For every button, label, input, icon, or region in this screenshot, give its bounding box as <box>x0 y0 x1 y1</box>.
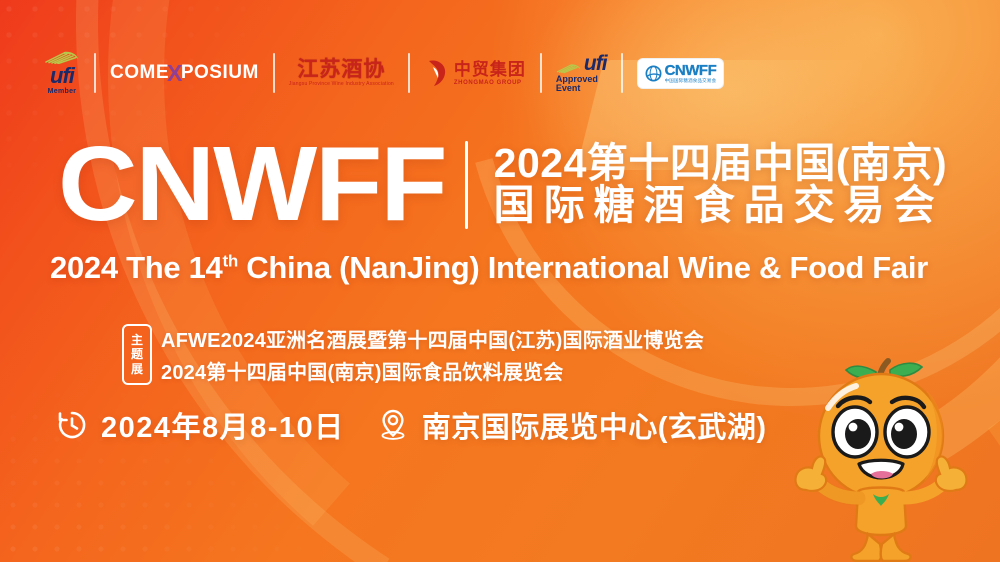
comexposium-logo: COME X POSIUM <box>110 60 259 87</box>
clock-history-icon <box>56 409 88 441</box>
event-date-item: 2024年8月8-10日 <box>56 404 345 446</box>
themed-exhibition-line-2: 2024第十四届中国(南京)国际食品饮料展览会 <box>161 356 704 385</box>
jiangsu-wine-association-en: Jiangsu Province Wine Industry Associati… <box>289 82 394 87</box>
cnwff-logo-main: CNWFF <box>665 63 717 78</box>
logo-divider-3 <box>408 53 410 93</box>
english-title: 2024 The 14th China (NanJing) Internatio… <box>50 250 928 286</box>
comexposium-part2: POSIUM <box>181 62 259 84</box>
theme-badge: 主 题 展 <box>122 324 152 385</box>
logo-divider-1 <box>94 53 96 93</box>
ufi-event-label: Event <box>556 84 581 93</box>
event-venue: 南京国际展览中心(玄武湖) <box>422 404 767 446</box>
zhongmao-horse-icon <box>424 58 450 88</box>
zhongmao-group-en: ZHONGMAO GROUP <box>454 80 526 86</box>
comexposium-part1: COME <box>110 62 169 84</box>
cnwff-logo: CNWFF 中国国际糖酒食品交易会 <box>637 58 725 89</box>
globe-icon <box>645 65 662 82</box>
ufi-approved-wordmark: ufi <box>584 53 607 74</box>
english-title-ordinal: th <box>222 252 237 271</box>
halftone-dots-bottom-left <box>0 362 340 562</box>
headline: CNWFF 2024第十四届中国(南京) 国际糖酒食品交易会 <box>58 136 947 234</box>
chinese-title-line1: 2024第十四届中国(南京) <box>494 143 948 185</box>
ufi-member-label: Member <box>48 88 77 95</box>
chinese-title-line2: 国际糖酒食品交易会 <box>494 185 948 227</box>
logo-divider-4 <box>540 53 542 93</box>
logo-bar: ufi Member COME X POSIUM 江苏酒协 Jiangsu Pr… <box>44 49 724 97</box>
themed-exhibitions: 主 题 展 AFWE2024亚洲名酒展暨第十四届中国(江苏)国际酒业博览会 20… <box>122 324 704 385</box>
event-venue-item: 南京国际展览中心(玄武湖) <box>377 404 767 446</box>
english-title-suffix: China (NanJing) International Wine & Foo… <box>238 250 928 285</box>
zhongmao-group-cn: 中贸集团 <box>454 61 526 78</box>
theme-badge-char-2: 题 <box>131 347 143 361</box>
orange-fruit-mascot <box>766 356 996 562</box>
ufi-wordmark: ufi <box>50 65 74 87</box>
jiangsu-wine-association-logo: 江苏酒协 Jiangsu Province Wine Industry Asso… <box>289 59 394 87</box>
event-acronym: CNWFF <box>58 136 446 234</box>
logo-divider-2 <box>273 53 275 93</box>
ufi-approved-swoosh-icon <box>556 63 582 74</box>
event-date: 2024年8月8-10日 <box>101 404 345 446</box>
theme-badge-char-3: 展 <box>131 362 143 376</box>
event-meta: 2024年8月8-10日 南京国际展览中心(玄武湖) <box>56 404 767 446</box>
logo-divider-5 <box>621 53 623 93</box>
headline-divider <box>465 141 468 229</box>
theme-badge-char-1: 主 <box>131 333 143 347</box>
event-poster: ufi Member COME X POSIUM 江苏酒协 Jiangsu Pr… <box>0 0 1000 562</box>
chinese-title: 2024第十四届中国(南京) 国际糖酒食品交易会 <box>494 143 948 227</box>
jiangsu-wine-association-cn: 江苏酒协 <box>297 59 385 80</box>
english-title-prefix: 2024 The 14 <box>50 250 222 285</box>
ufi-member-logo: ufi Member <box>44 51 80 95</box>
themed-exhibition-line-1: AFWE2024亚洲名酒展暨第十四届中国(江苏)国际酒业博览会 <box>161 324 704 353</box>
cnwff-logo-sub: 中国国际糖酒食品交易会 <box>665 79 717 84</box>
ufi-approved-event-logo: ufi Approved Event <box>556 53 607 93</box>
zhongmao-group-logo: 中贸集团 ZHONGMAO GROUP <box>424 58 526 88</box>
location-pin-icon <box>377 408 409 442</box>
